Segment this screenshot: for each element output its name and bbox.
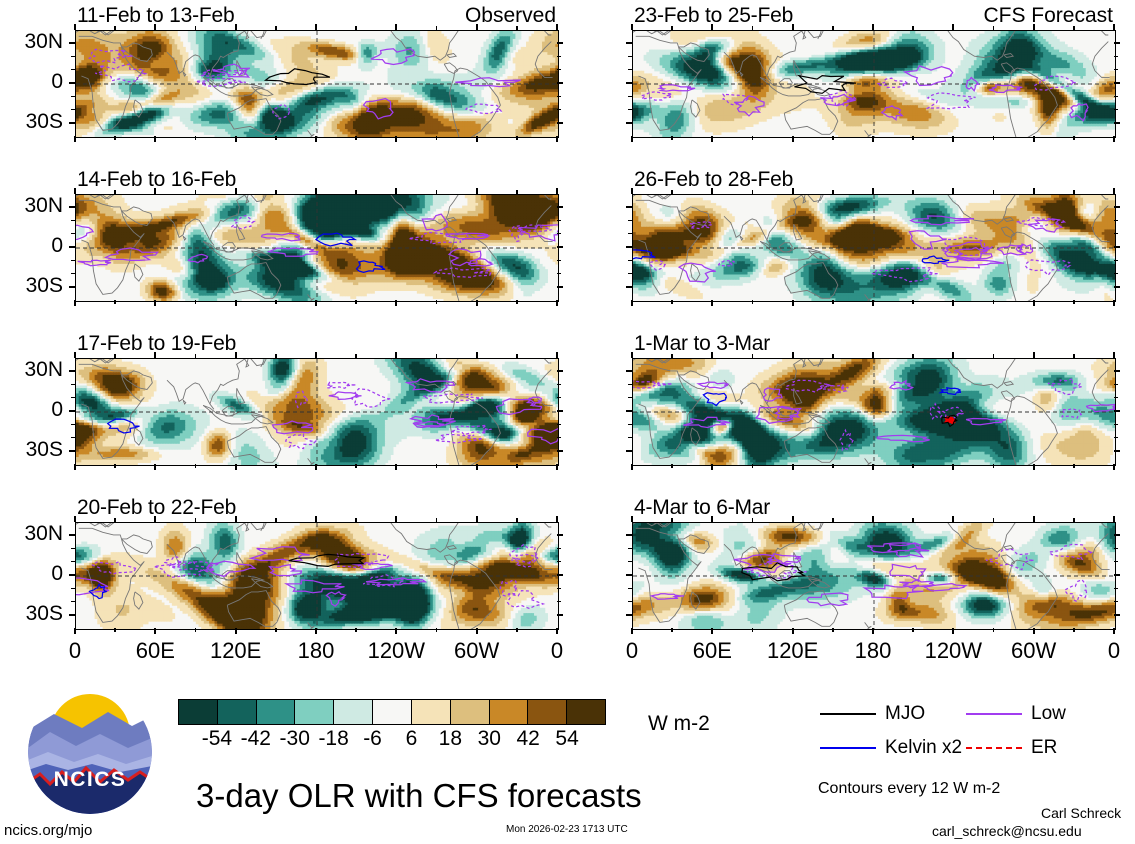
olr-shaded-field [76, 195, 558, 301]
x-axis-tick [195, 190, 197, 194]
x-axis-tick [952, 352, 954, 358]
x-axis-tick [993, 628, 995, 632]
x-axis-tick [114, 354, 116, 358]
legend-label: ER [1031, 737, 1057, 759]
x-axis-tick [1073, 26, 1075, 30]
y-axis-tick [557, 42, 563, 44]
x-axis-tick [195, 518, 197, 522]
y-axis-minor-tick [628, 437, 632, 438]
x-axis-tick [315, 628, 317, 634]
y-axis-minor-tick [628, 69, 632, 70]
x-axis-label: 120W [913, 638, 993, 664]
y-axis-minor-tick [1114, 220, 1118, 221]
y-axis-minor-tick [1114, 561, 1118, 562]
x-axis-tick [832, 518, 834, 522]
x-axis-tick [355, 136, 357, 140]
y-axis-label: 30S [0, 438, 63, 462]
y-axis-minor-tick [71, 260, 75, 261]
x-axis-tick [195, 136, 197, 140]
colorbar-swatch [411, 700, 450, 724]
x-axis-label: 60W [994, 638, 1074, 664]
x-axis-tick [395, 516, 397, 522]
olr-map-panel [75, 522, 559, 630]
x-axis-tick [1033, 300, 1035, 306]
y-axis-tick [1114, 286, 1120, 288]
x-axis-tick [1113, 136, 1115, 142]
y-axis-tick [69, 450, 75, 452]
colorbar-swatch [217, 700, 256, 724]
x-axis-tick [792, 300, 794, 306]
x-axis-tick [476, 300, 478, 306]
x-axis-tick [275, 26, 277, 30]
x-axis-tick [516, 300, 518, 304]
panel-title: 17-Feb to 19-Feb [77, 332, 236, 356]
x-axis-tick [1073, 628, 1075, 632]
legend-line-swatch [820, 713, 876, 715]
olr-shaded-field [76, 523, 558, 629]
x-axis-tick [993, 136, 995, 140]
y-axis-minor-tick [628, 561, 632, 562]
x-axis-tick [436, 354, 438, 358]
x-axis-tick [74, 24, 76, 30]
x-axis-tick [436, 190, 438, 194]
panel-title: 14-Feb to 16-Feb [77, 168, 236, 192]
y-axis-minor-tick [71, 384, 75, 385]
olr-map-panel [75, 194, 559, 302]
x-axis-tick [1033, 352, 1035, 358]
x-axis-tick [752, 628, 754, 632]
x-axis-tick [711, 24, 713, 30]
legend-line-swatch [820, 747, 876, 749]
x-axis-tick [195, 464, 197, 468]
olr-map-panel [75, 358, 559, 466]
x-axis-tick [235, 136, 237, 142]
y-axis-minor-tick [628, 397, 632, 398]
olr-map-panel [632, 30, 1116, 138]
x-axis-tick [74, 300, 76, 306]
x-axis-tick [752, 464, 754, 468]
x-axis-tick [952, 188, 954, 194]
y-axis-minor-tick [557, 437, 561, 438]
x-axis-tick [1033, 628, 1035, 634]
x-axis-tick [872, 464, 874, 470]
y-axis-tick [1114, 574, 1120, 576]
legend-label: Kelvin x2 [885, 737, 962, 759]
x-axis-tick [355, 464, 357, 468]
x-axis-tick [355, 628, 357, 632]
panel-title: 4-Mar to 6-Mar [634, 496, 770, 520]
x-axis-tick [74, 628, 76, 634]
y-axis-label: 30S [0, 274, 63, 298]
x-axis-tick [74, 516, 76, 522]
y-axis-minor-tick [71, 69, 75, 70]
x-axis-tick [395, 352, 397, 358]
olr-map-panel [632, 194, 1116, 302]
y-axis-tick [69, 370, 75, 372]
x-axis-tick [355, 190, 357, 194]
x-axis-tick [235, 300, 237, 306]
x-axis-tick [556, 628, 558, 634]
x-axis-tick [315, 516, 317, 522]
x-axis-tick [832, 628, 834, 632]
x-axis-tick [792, 24, 794, 30]
x-axis-tick [752, 518, 754, 522]
y-axis-minor-tick [1114, 109, 1118, 110]
y-axis-tick [557, 450, 563, 452]
y-axis-minor-tick [628, 109, 632, 110]
x-axis-tick [556, 188, 558, 194]
x-axis-tick [1113, 464, 1115, 470]
y-axis-minor-tick [628, 424, 632, 425]
x-axis-tick [476, 24, 478, 30]
author-email: carl_schreck@ncsu.edu [932, 823, 1082, 839]
y-axis-minor-tick [628, 601, 632, 602]
x-axis-tick [993, 518, 995, 522]
x-axis-tick [752, 300, 754, 304]
x-axis-tick [671, 190, 673, 194]
olr-shaded-field [633, 359, 1115, 465]
y-axis-minor-tick [557, 109, 561, 110]
x-axis-tick [993, 464, 995, 468]
y-axis-minor-tick [557, 397, 561, 398]
y-axis-minor-tick [628, 56, 632, 57]
y-axis-minor-tick [1114, 437, 1118, 438]
panel-title: 1-Mar to 3-Mar [634, 332, 770, 356]
x-axis-tick [1033, 464, 1035, 470]
x-axis-tick [1073, 518, 1075, 522]
x-axis-tick [395, 628, 397, 634]
x-axis-tick [671, 300, 673, 304]
x-axis-tick [792, 136, 794, 142]
y-axis-tick [1114, 534, 1120, 536]
x-axis-tick [952, 516, 954, 522]
x-axis-tick [195, 628, 197, 632]
y-axis-minor-tick [1114, 69, 1118, 70]
x-axis-tick [912, 464, 914, 468]
y-axis-minor-tick [1114, 233, 1118, 234]
y-axis-tick [69, 122, 75, 124]
y-axis-minor-tick [557, 588, 561, 589]
x-axis-tick [154, 352, 156, 358]
x-axis-tick [315, 188, 317, 194]
y-axis-tick [626, 614, 632, 616]
x-axis-tick [476, 516, 478, 522]
x-axis-tick [872, 300, 874, 306]
x-axis-tick [872, 628, 874, 634]
x-axis-tick [872, 136, 874, 142]
x-axis-tick [1033, 24, 1035, 30]
x-axis-tick [872, 188, 874, 194]
x-axis-tick [154, 24, 156, 30]
y-axis-minor-tick [71, 56, 75, 57]
x-axis-tick [395, 24, 397, 30]
x-axis-label: 60E [115, 638, 195, 664]
x-axis-tick [1113, 516, 1115, 522]
y-axis-label: 30N [0, 358, 63, 382]
panel-title: 26-Feb to 28-Feb [634, 168, 793, 192]
x-axis-tick [872, 24, 874, 30]
x-axis-tick [154, 136, 156, 142]
x-axis-tick [752, 26, 754, 30]
olr-shaded-field [76, 359, 558, 465]
x-axis-tick [952, 300, 954, 306]
ncics-logo-artwork [28, 690, 152, 814]
y-axis-minor-tick [628, 260, 632, 261]
x-axis-tick [832, 190, 834, 194]
y-axis-tick [557, 370, 563, 372]
y-axis-label: 0 [0, 70, 63, 94]
y-axis-minor-tick [557, 96, 561, 97]
x-axis-tick [1073, 300, 1075, 304]
x-axis-tick [631, 188, 633, 194]
x-axis-tick [832, 464, 834, 468]
y-axis-minor-tick [71, 548, 75, 549]
x-axis-tick [476, 352, 478, 358]
y-axis-minor-tick [71, 233, 75, 234]
y-axis-label: 30S [0, 110, 63, 134]
x-axis-tick [1113, 628, 1115, 634]
x-axis-label: 180 [833, 638, 913, 664]
x-axis-tick [1113, 24, 1115, 30]
x-axis-tick [235, 628, 237, 634]
x-axis-tick [1073, 464, 1075, 468]
y-axis-tick [557, 286, 563, 288]
colorbar-swatch [294, 700, 333, 724]
colorbar-swatch [566, 700, 605, 724]
ncics-logo: NCICS [28, 690, 152, 814]
x-axis-tick [195, 26, 197, 30]
x-axis-tick [631, 24, 633, 30]
x-axis-tick [114, 464, 116, 468]
x-axis-tick [872, 352, 874, 358]
y-axis-minor-tick [557, 424, 561, 425]
x-axis-tick [952, 628, 954, 634]
x-axis-tick [711, 136, 713, 142]
olr-shaded-field [633, 31, 1115, 137]
x-axis-label: 180 [276, 638, 356, 664]
x-axis-tick [832, 300, 834, 304]
x-axis-tick [993, 300, 995, 304]
x-axis-tick [631, 136, 633, 142]
colorbar-swatch [489, 700, 528, 724]
legend-label: MJO [885, 703, 925, 725]
x-axis-tick [711, 516, 713, 522]
y-axis-tick [1114, 42, 1120, 44]
y-axis-tick [557, 206, 563, 208]
y-axis-minor-tick [628, 233, 632, 234]
y-axis-label: 30N [0, 522, 63, 546]
y-axis-label: 30S [0, 602, 63, 626]
y-axis-label: 0 [0, 398, 63, 422]
x-axis-tick [711, 188, 713, 194]
x-axis-tick [355, 26, 357, 30]
olr-shaded-field [633, 523, 1115, 629]
y-axis-minor-tick [557, 56, 561, 57]
x-axis-tick [315, 352, 317, 358]
x-axis-tick [476, 136, 478, 142]
colorbar-swatch [450, 700, 489, 724]
y-axis-minor-tick [557, 273, 561, 274]
y-axis-minor-tick [557, 69, 561, 70]
x-axis-label: 0 [592, 638, 672, 664]
x-axis-label: 120E [753, 638, 833, 664]
x-axis-tick [315, 300, 317, 306]
y-axis-minor-tick [1114, 588, 1118, 589]
x-axis-tick [436, 464, 438, 468]
x-axis-label: 0 [517, 638, 597, 664]
x-axis-tick [235, 464, 237, 470]
x-axis-tick [275, 190, 277, 194]
x-axis-tick [872, 516, 874, 522]
ncics-logo-text: NCICS [28, 768, 152, 792]
y-axis-tick [626, 534, 632, 536]
x-axis-tick [476, 464, 478, 470]
x-axis-tick [752, 190, 754, 194]
x-axis-tick [912, 26, 914, 30]
x-axis-tick [556, 300, 558, 306]
y-axis-label: 0 [0, 562, 63, 586]
x-axis-tick [912, 518, 914, 522]
x-axis-tick [912, 136, 914, 140]
y-axis-tick [557, 246, 563, 248]
x-axis-label: 60E [672, 638, 752, 664]
x-axis-label: 120W [356, 638, 436, 664]
y-axis-tick [626, 206, 632, 208]
x-axis-tick [154, 300, 156, 306]
y-axis-minor-tick [1114, 273, 1118, 274]
x-axis-tick [792, 628, 794, 634]
x-axis-tick [436, 26, 438, 30]
x-axis-tick [235, 516, 237, 522]
x-axis-label: 60W [437, 638, 517, 664]
x-axis-tick [912, 354, 914, 358]
x-axis-tick [711, 352, 713, 358]
y-axis-tick [557, 574, 563, 576]
x-axis-tick [516, 190, 518, 194]
y-axis-minor-tick [1114, 601, 1118, 602]
y-axis-minor-tick [1114, 384, 1118, 385]
y-axis-minor-tick [1114, 548, 1118, 549]
x-axis-tick [752, 136, 754, 140]
x-axis-tick [154, 516, 156, 522]
x-axis-tick [516, 354, 518, 358]
y-axis-tick [1114, 410, 1120, 412]
colorbar-swatch [179, 700, 217, 724]
x-axis-tick [1033, 136, 1035, 142]
x-axis-tick [952, 464, 954, 470]
y-axis-minor-tick [71, 424, 75, 425]
x-axis-tick [436, 628, 438, 632]
olr-map-panel [632, 358, 1116, 466]
y-axis-tick [626, 286, 632, 288]
y-axis-minor-tick [557, 561, 561, 562]
y-axis-minor-tick [557, 601, 561, 602]
x-axis-tick [671, 518, 673, 522]
x-axis-tick [114, 518, 116, 522]
y-axis-tick [557, 614, 563, 616]
x-axis-tick [395, 300, 397, 306]
x-axis-tick [671, 354, 673, 358]
x-axis-tick [912, 300, 914, 304]
y-axis-minor-tick [71, 397, 75, 398]
x-axis-tick [1033, 188, 1035, 194]
colorbar-tick-label: 54 [537, 727, 597, 751]
x-axis-tick [711, 300, 713, 306]
x-axis-tick [631, 300, 633, 306]
panel-title: 20-Feb to 22-Feb [77, 496, 236, 520]
x-axis-tick [476, 628, 478, 634]
y-axis-tick [69, 574, 75, 576]
y-axis-minor-tick [557, 233, 561, 234]
olr-shaded-field [633, 195, 1115, 301]
y-axis-minor-tick [71, 220, 75, 221]
y-axis-tick [626, 450, 632, 452]
x-axis-tick [792, 464, 794, 470]
site-url: ncics.org/mjo [4, 822, 92, 839]
colorbar-swatch [372, 700, 411, 724]
olr-map-panel [75, 30, 559, 138]
y-axis-minor-tick [71, 561, 75, 562]
x-axis-tick [315, 464, 317, 470]
y-axis-minor-tick [628, 220, 632, 221]
y-axis-tick [557, 410, 563, 412]
colorbar-swatch [256, 700, 295, 724]
x-axis-tick [436, 136, 438, 140]
y-axis-tick [1114, 246, 1120, 248]
panel-column-header: Observed [465, 4, 556, 28]
x-axis-tick [436, 518, 438, 522]
x-axis-tick [275, 518, 277, 522]
y-axis-minor-tick [71, 588, 75, 589]
y-axis-tick [557, 122, 563, 124]
legend-line-swatch [966, 713, 1022, 715]
colorbar [178, 699, 606, 725]
x-axis-tick [74, 464, 76, 470]
x-axis-tick [711, 464, 713, 470]
x-axis-tick [912, 190, 914, 194]
y-axis-minor-tick [557, 548, 561, 549]
x-axis-tick [195, 300, 197, 304]
y-axis-minor-tick [1114, 260, 1118, 261]
y-axis-tick [1114, 122, 1120, 124]
x-axis-tick [355, 518, 357, 522]
y-axis-tick [69, 614, 75, 616]
contour-note: Contours every 12 W m-2 [818, 780, 1000, 798]
x-axis-tick [154, 464, 156, 470]
y-axis-tick [626, 574, 632, 576]
x-axis-tick [516, 26, 518, 30]
x-axis-tick [711, 628, 713, 634]
y-axis-label: 0 [0, 234, 63, 258]
x-axis-tick [1073, 354, 1075, 358]
y-axis-tick [626, 246, 632, 248]
y-axis-minor-tick [628, 588, 632, 589]
x-axis-tick [556, 352, 558, 358]
x-axis-tick [275, 628, 277, 632]
x-axis-tick [235, 188, 237, 194]
x-axis-tick [355, 354, 357, 358]
legend-label: Low [1031, 703, 1066, 725]
x-axis-tick [114, 628, 116, 632]
x-axis-tick [993, 190, 995, 194]
x-axis-tick [1113, 188, 1115, 194]
x-axis-tick [631, 628, 633, 634]
x-axis-tick [792, 352, 794, 358]
y-axis-minor-tick [71, 109, 75, 110]
x-axis-tick [275, 300, 277, 304]
y-axis-tick [1114, 450, 1120, 452]
y-axis-tick [1114, 206, 1120, 208]
